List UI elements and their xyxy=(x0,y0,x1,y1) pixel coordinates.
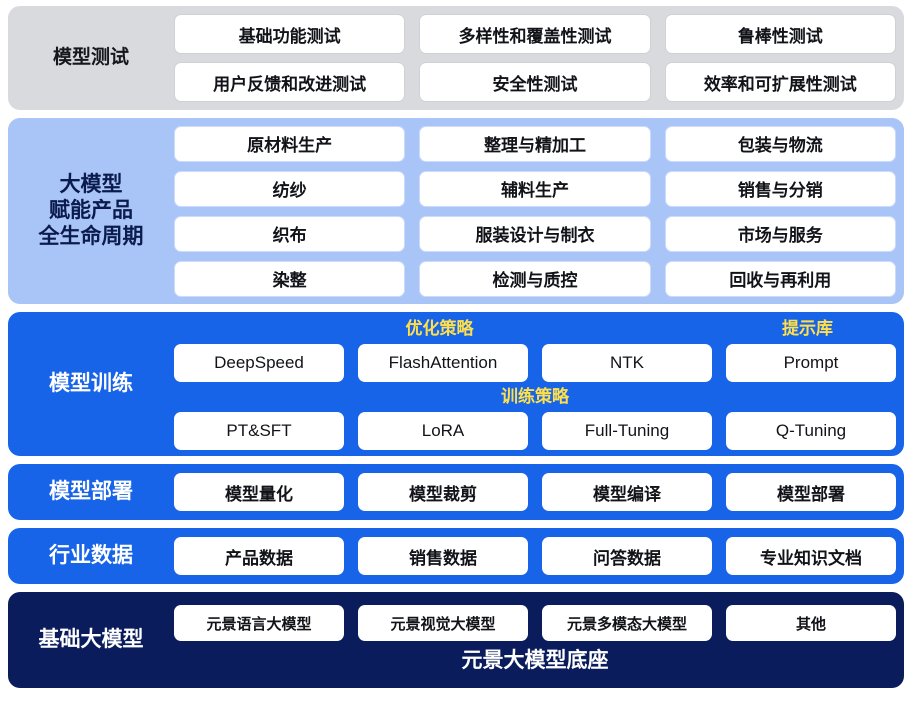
list-item[interactable]: 包装与物流 xyxy=(665,126,896,162)
band-body-model-deployment: 模型量化 模型裁剪 模型编译 模型部署 xyxy=(174,473,896,511)
list-item[interactable]: 销售与分销 xyxy=(665,171,896,207)
list-item[interactable]: 基础功能测试 xyxy=(174,14,405,54)
list-item[interactable]: 纺纱 xyxy=(174,171,405,207)
list-item[interactable]: 专业知识文档 xyxy=(726,537,896,575)
list-item[interactable]: PT&SFT xyxy=(174,412,344,450)
table-row: DeepSpeed FlashAttention NTK Prompt xyxy=(174,344,896,382)
list-item[interactable]: 问答数据 xyxy=(542,537,712,575)
band-model-deployment: 模型部署 模型量化 模型裁剪 模型编译 模型部署 xyxy=(8,464,904,520)
subtitle-prompt-library: 提示库 xyxy=(719,318,896,340)
foundation-platform-title: 元景大模型底座 xyxy=(174,647,896,675)
band-model-training: 模型训练 优化策略 提示库 DeepSpeed FlashAttention N… xyxy=(8,312,904,456)
diagram-root: 模型测试 基础功能测试 多样性和覆盖性测试 鲁棒性测试 用户反馈和改进测试 安全… xyxy=(0,0,912,701)
band-model-test: 模型测试 基础功能测试 多样性和覆盖性测试 鲁棒性测试 用户反馈和改进测试 安全… xyxy=(8,6,904,110)
band-label-model-test: 模型测试 xyxy=(16,14,166,102)
table-row: 产品数据 销售数据 问答数据 专业知识文档 xyxy=(174,537,896,575)
band-body-industry-data: 产品数据 销售数据 问答数据 专业知识文档 xyxy=(174,537,896,575)
list-item[interactable]: 销售数据 xyxy=(358,537,528,575)
table-row: PT&SFT LoRA Full-Tuning Q-Tuning xyxy=(174,412,896,450)
subtitle-row-top: 优化策略 提示库 xyxy=(174,318,896,340)
list-item[interactable]: 元景视觉大模型 xyxy=(358,605,528,641)
list-item[interactable]: 模型部署 xyxy=(726,473,896,511)
list-item[interactable]: 安全性测试 xyxy=(419,62,650,102)
list-item[interactable]: 回收与再利用 xyxy=(665,261,896,297)
list-item[interactable]: 效率和可扩展性测试 xyxy=(665,62,896,102)
band-label-model-deployment: 模型部署 xyxy=(16,479,166,505)
list-item[interactable]: 辅料生产 xyxy=(419,171,650,207)
list-item[interactable]: 检测与质控 xyxy=(419,261,650,297)
band-label-foundation-models: 基础大模型 xyxy=(16,600,166,680)
table-row: 模型量化 模型裁剪 模型编译 模型部署 xyxy=(174,473,896,511)
list-item[interactable]: 元景语言大模型 xyxy=(174,605,344,641)
table-row: 织布 服装设计与制衣 市场与服务 xyxy=(174,216,896,252)
table-row: 元景语言大模型 元景视觉大模型 元景多模态大模型 其他 xyxy=(174,605,896,641)
table-row: 染整 检测与质控 回收与再利用 xyxy=(174,261,896,297)
list-item[interactable]: 产品数据 xyxy=(174,537,344,575)
list-item[interactable]: Prompt xyxy=(726,344,896,382)
list-item[interactable]: 多样性和覆盖性测试 xyxy=(419,14,650,54)
band-body-lifecycle: 原材料生产 整理与精加工 包装与物流 纺纱 辅料生产 销售与分销 织布 服装设计… xyxy=(174,126,896,296)
band-label-industry-data: 行业数据 xyxy=(16,543,166,569)
band-body-model-training: 优化策略 提示库 DeepSpeed FlashAttention NTK Pr… xyxy=(174,320,896,448)
list-item[interactable]: DeepSpeed xyxy=(174,344,344,382)
list-item[interactable]: 服装设计与制衣 xyxy=(419,216,650,252)
subtitle-row-bottom: 训练策略 xyxy=(174,386,896,408)
subtitle-optimization: 优化策略 xyxy=(174,318,705,340)
band-body-model-test: 基础功能测试 多样性和覆盖性测试 鲁棒性测试 用户反馈和改进测试 安全性测试 效… xyxy=(174,14,896,102)
list-item[interactable]: 元景多模态大模型 xyxy=(542,605,712,641)
table-row: 用户反馈和改进测试 安全性测试 效率和可扩展性测试 xyxy=(174,62,896,102)
subtitle-training-strategy: 训练策略 xyxy=(174,386,896,408)
list-item[interactable]: 模型编译 xyxy=(542,473,712,511)
table-row: 基础功能测试 多样性和覆盖性测试 鲁棒性测试 xyxy=(174,14,896,54)
table-row: 纺纱 辅料生产 销售与分销 xyxy=(174,171,896,207)
list-item[interactable]: Q-Tuning xyxy=(726,412,896,450)
list-item[interactable]: 其他 xyxy=(726,605,896,641)
band-label-lifecycle: 大模型 赋能产品 全生命周期 xyxy=(16,126,166,296)
list-item[interactable]: Full-Tuning xyxy=(542,412,712,450)
list-item[interactable]: FlashAttention xyxy=(358,344,528,382)
list-item[interactable]: 染整 xyxy=(174,261,405,297)
list-item[interactable]: 鲁棒性测试 xyxy=(665,14,896,54)
band-label-model-training: 模型训练 xyxy=(16,320,166,448)
band-industry-data: 行业数据 产品数据 销售数据 问答数据 专业知识文档 xyxy=(8,528,904,584)
list-item[interactable]: LoRA xyxy=(358,412,528,450)
band-lifecycle: 大模型 赋能产品 全生命周期 原材料生产 整理与精加工 包装与物流 纺纱 辅料生… xyxy=(8,118,904,304)
table-row: 原材料生产 整理与精加工 包装与物流 xyxy=(174,126,896,162)
list-item[interactable]: 原材料生产 xyxy=(174,126,405,162)
list-item[interactable]: 市场与服务 xyxy=(665,216,896,252)
band-body-foundation-models: 元景语言大模型 元景视觉大模型 元景多模态大模型 其他 元景大模型底座 xyxy=(174,600,896,680)
list-item[interactable]: 模型裁剪 xyxy=(358,473,528,511)
list-item[interactable]: 整理与精加工 xyxy=(419,126,650,162)
band-foundation-models: 基础大模型 元景语言大模型 元景视觉大模型 元景多模态大模型 其他 元景大模型底… xyxy=(8,592,904,688)
list-item[interactable]: 用户反馈和改进测试 xyxy=(174,62,405,102)
list-item[interactable]: 织布 xyxy=(174,216,405,252)
list-item[interactable]: NTK xyxy=(542,344,712,382)
list-item[interactable]: 模型量化 xyxy=(174,473,344,511)
